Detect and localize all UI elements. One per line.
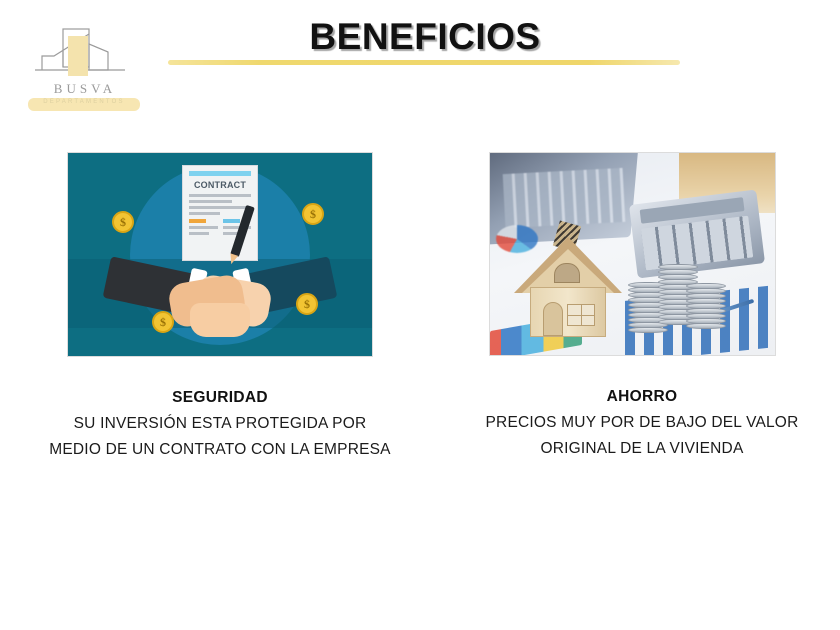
dollar-coin-icon: $ — [302, 203, 324, 225]
calculator-keys — [641, 216, 753, 271]
brand-logo[interactable]: BUSVA DEPARTAMENTOS — [20, 26, 150, 112]
benefit-caption-ahorro: AHORRO PRECIOS MUY POR DE BAJO DEL VALOR… — [477, 384, 807, 462]
benefit-body: SU INVERSIÓN ESTA PROTEGIDA POR MEDIO DE… — [47, 411, 393, 463]
building-outline-icon — [32, 26, 128, 82]
benefit-caption-seguridad: SEGURIDAD SU INVERSIÓN ESTA PROTEGIDA PO… — [47, 385, 393, 463]
logo-tagline-band: DEPARTAMENTOS — [28, 98, 140, 111]
logo-tagline: DEPARTAMENTOS — [28, 99, 140, 105]
handshake-contract-illustration: CONTRACT $ — [67, 152, 373, 357]
slide-canvas: BUSVA DEPARTAMENTOS BENEFICIOS CONTRACT — [0, 0, 840, 630]
page-title: BENEFICIOS — [170, 16, 680, 58]
benefit-heading: AHORRO — [477, 384, 807, 410]
house-body — [530, 287, 606, 337]
dollar-coin-icon: $ — [296, 293, 318, 315]
house-model-savings-photo — [489, 152, 776, 356]
logo-accent-swatch — [68, 36, 88, 76]
dollar-coin-icon: $ — [112, 211, 134, 233]
attic-window — [554, 263, 580, 283]
logo-wordmark: BUSVA — [20, 81, 150, 97]
contract-document-label: CONTRACT — [189, 180, 251, 190]
benefit-body: PRECIOS MUY POR DE BAJO DEL VALOR ORIGIN… — [477, 410, 807, 462]
handshake-grip — [190, 303, 250, 337]
benefit-heading: SEGURIDAD — [47, 385, 393, 411]
title-underline-rule — [168, 60, 680, 65]
laptop-keyboard — [503, 168, 626, 228]
house-door — [543, 302, 563, 336]
dollar-coin-icon: $ — [152, 311, 174, 333]
house-model-icon — [518, 229, 618, 337]
coin-stack — [686, 284, 726, 329]
house-window — [567, 304, 595, 326]
